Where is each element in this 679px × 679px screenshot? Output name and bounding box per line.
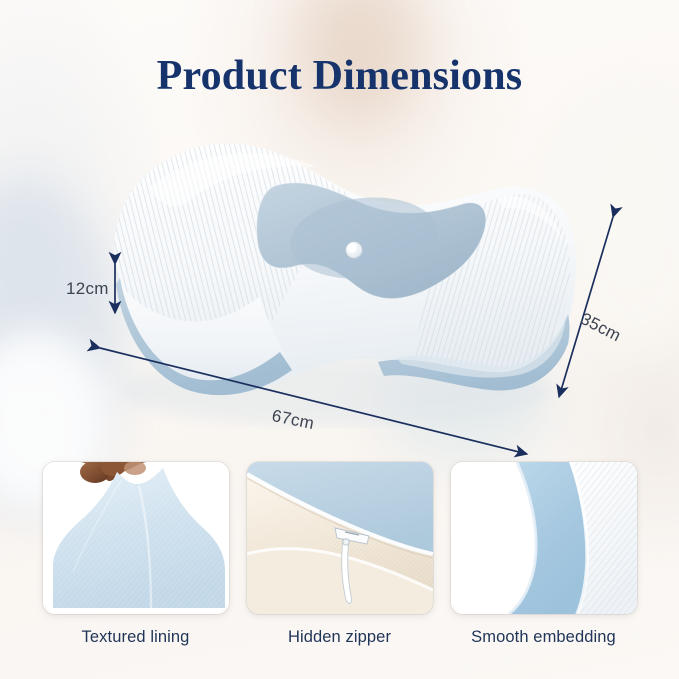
product-image-pillow xyxy=(78,118,588,428)
hidden-zipper-photo[interactable] xyxy=(247,462,433,614)
product-infographic: Product Dimensions xyxy=(0,0,679,679)
dimension-label-height: 12cm xyxy=(66,279,109,299)
feature-card[interactable]: Smooth embedding xyxy=(451,462,637,647)
feature-caption: Textured lining xyxy=(43,628,229,647)
feature-caption: Hidden zipper xyxy=(247,628,433,647)
feature-card[interactable]: Hidden zipper xyxy=(247,462,433,647)
feature-caption: Smooth embedding xyxy=(451,628,637,647)
page-title: Product Dimensions xyxy=(0,52,679,100)
textured-lining-photo[interactable] xyxy=(43,462,229,614)
feature-card-list: Textured lining xyxy=(0,462,679,647)
smooth-embedding-photo[interactable] xyxy=(451,462,637,614)
feature-card[interactable]: Textured lining xyxy=(43,462,229,647)
